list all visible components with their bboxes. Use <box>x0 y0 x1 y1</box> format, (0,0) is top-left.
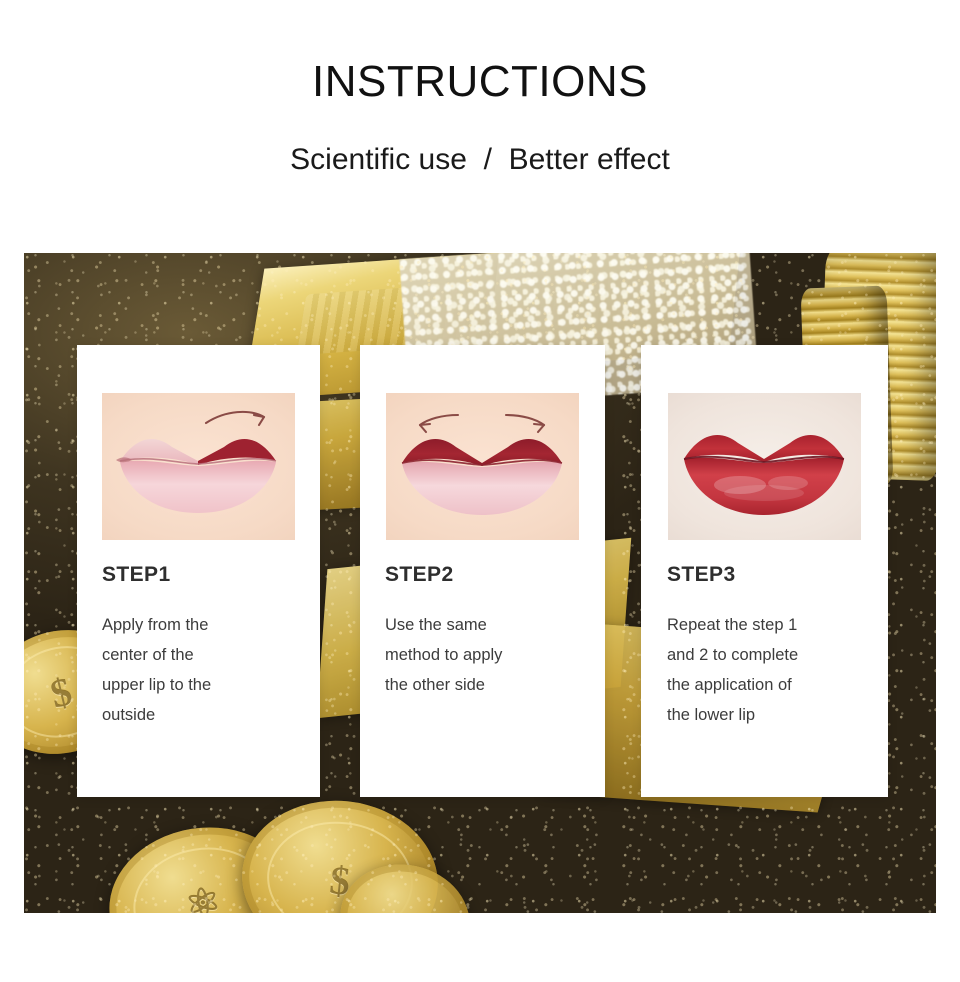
page-title: INSTRUCTIONS <box>0 55 960 109</box>
step-title: STEP1 <box>102 563 171 587</box>
page-header: INSTRUCTIONS Scientific use / Better eff… <box>0 0 960 253</box>
lips-diagram-step3 <box>668 393 861 540</box>
step-card-1[interactable]: STEP1 Apply from the center of the upper… <box>77 345 320 797</box>
step-card-3[interactable]: STEP3 Repeat the step 1 and 2 to complet… <box>641 345 888 797</box>
step-description: Repeat the step 1 and 2 to complete the … <box>667 610 877 730</box>
step-description: Use the same method to apply the other s… <box>385 610 590 700</box>
lips-step1-image <box>102 393 295 540</box>
page-subtitle: Scientific use / Better effect <box>0 141 960 179</box>
step-card-2[interactable]: STEP2 Use the same method to apply the o… <box>360 345 605 797</box>
step-description: Apply from the center of the upper lip t… <box>102 610 302 730</box>
step-title: STEP3 <box>667 563 736 587</box>
lips-diagram-step1 <box>102 393 295 540</box>
lips-diagram-step2 <box>386 393 579 540</box>
step-title: STEP2 <box>385 563 454 587</box>
lips-step2-image <box>386 393 579 540</box>
lips-step3-image <box>668 393 861 540</box>
